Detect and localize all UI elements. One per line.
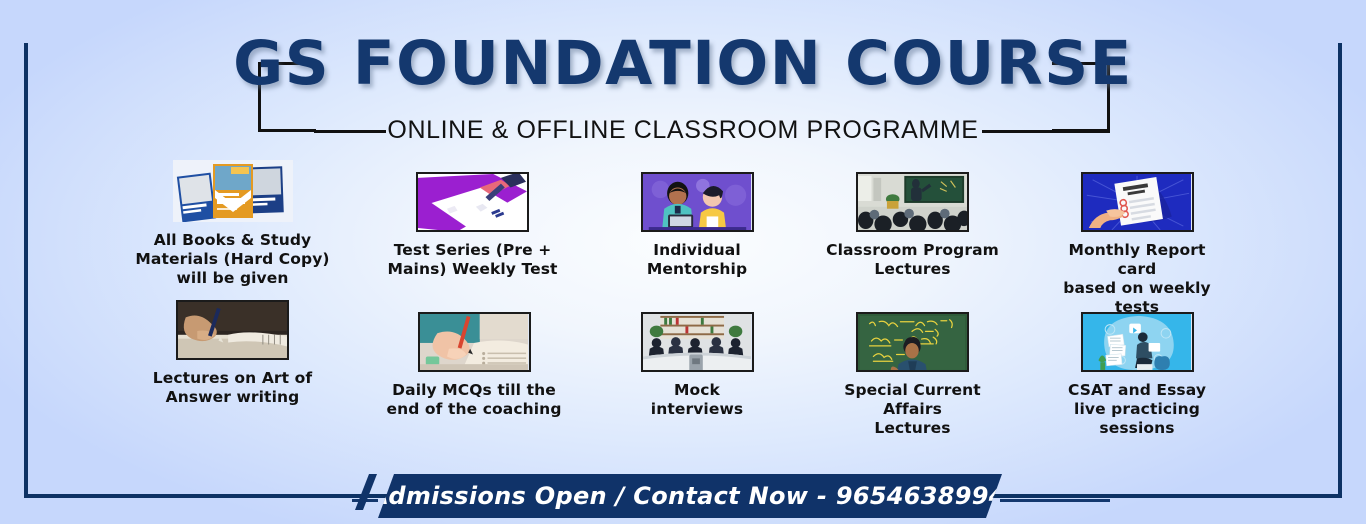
feature-item-mentorship[interactable]: Individual Mentorship (612, 172, 782, 279)
feature-caption: Mock interviews (612, 381, 782, 419)
feature-item-report-card[interactable]: Monthly Report card based on weekly test… (1048, 172, 1226, 317)
admissions-ribbon[interactable]: Admissions Open / Contact Now - 96546389… (0, 466, 1366, 516)
feature-item-books[interactable]: All Books & Study Materials (Hard Copy) … (130, 160, 335, 288)
feature-caption: Daily MCQs till the end of the coaching (385, 381, 563, 419)
feature-item-current-affairs[interactable]: Special Current Affairs Lectures (820, 312, 1005, 438)
hand-writing-test-image (416, 172, 529, 232)
feature-caption: CSAT and Essay live practicing sessions (1048, 381, 1226, 438)
feature-item-mock-interviews[interactable]: Mock interviews (612, 312, 782, 419)
ribbon-tip-left (355, 474, 377, 510)
teacher-greenboard-photo (856, 312, 969, 372)
feature-row-1: All Books & Study Materials (Hard Copy) … (0, 160, 1366, 300)
feature-item-test-series[interactable]: Test Series (Pre + Mains) Weekly Test (385, 172, 560, 279)
student-papers-illustration (1081, 312, 1194, 372)
poster-header: GS FOUNDATION COURSE ONLINE & OFFLINE CL… (0, 0, 1366, 150)
feature-item-daily-mcqs[interactable]: Daily MCQs till the end of the coaching (385, 312, 563, 419)
books-stack-image (173, 160, 293, 222)
ribbon-line-right (1000, 499, 1110, 502)
classroom-lecture-photo (856, 172, 969, 232)
feature-grid: All Books & Study Materials (Hard Copy) … (0, 160, 1366, 440)
ribbon-banner[interactable]: Admissions Open / Contact Now - 96546389… (378, 474, 1002, 518)
interview-panel-photo (641, 312, 754, 372)
feature-caption: Classroom Program Lectures (825, 241, 1000, 279)
feature-item-csat-essay[interactable]: CSAT and Essay live practicing sessions (1048, 312, 1226, 438)
mentor-student-laptop-image (641, 172, 754, 232)
feature-caption: Individual Mentorship (612, 241, 782, 279)
feature-caption: Special Current Affairs Lectures (820, 381, 1005, 438)
feature-caption: All Books & Study Materials (Hard Copy) … (130, 231, 335, 288)
poster-canvas: GS FOUNDATION COURSE ONLINE & OFFLINE CL… (0, 0, 1366, 524)
feature-caption: Lectures on Art of Answer writing (145, 369, 320, 407)
feature-row-2: Lectures on Art of Answer writing (0, 300, 1366, 440)
feature-item-answer-writing[interactable]: Lectures on Art of Answer writing (145, 300, 320, 407)
report-card-hand-image (1081, 172, 1194, 232)
page-title: GS FOUNDATION COURSE (0, 28, 1366, 99)
ribbon-text: Admissions Open / Contact Now - 96546389… (370, 482, 1006, 510)
page-subtitle: ONLINE & OFFLINE CLASSROOM PROGRAMME (0, 116, 1366, 145)
feature-caption: Test Series (Pre + Mains) Weekly Test (385, 241, 560, 279)
hand-writing-notebook-photo (176, 300, 289, 360)
omr-sheet-pencil-photo (418, 312, 531, 372)
feature-item-classroom[interactable]: Classroom Program Lectures (825, 172, 1000, 279)
